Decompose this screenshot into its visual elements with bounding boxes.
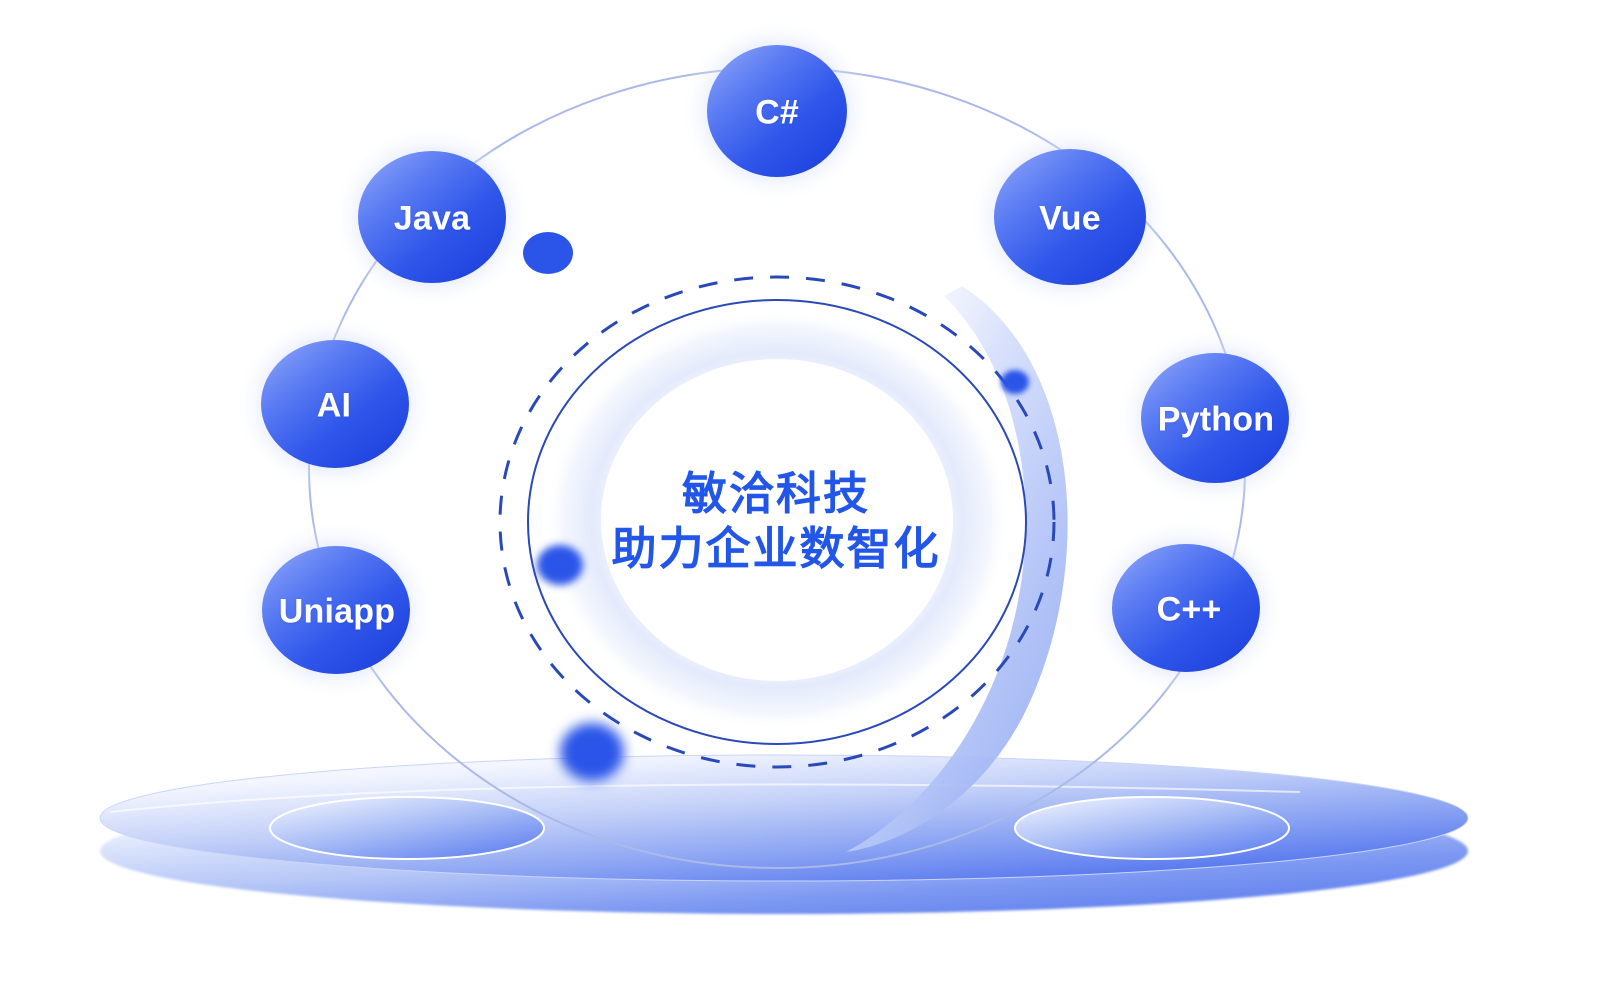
center-rings [500, 277, 1054, 767]
dot-mid-left-icon [537, 545, 583, 585]
node-label-java-hit[interactable] [358, 151, 506, 283]
dot-top-left-icon [523, 232, 573, 274]
base-inner-ring-right [1015, 797, 1289, 859]
node-label-python-hit[interactable] [1141, 353, 1289, 483]
base-inner-ring-left [270, 797, 544, 859]
node-label-ai-hit[interactable] [261, 340, 409, 468]
core-disc [601, 359, 953, 681]
node-label-vue-hit[interactable] [994, 149, 1146, 285]
infographic-canvas: C# Vue Python C++ Uniapp AI Java 敏洽科技 助力… [0, 0, 1607, 981]
node-label-uniapp-hit[interactable] [262, 546, 410, 674]
node-label-cpp-hit[interactable] [1112, 544, 1260, 672]
node-label-csharp-hit[interactable] [707, 45, 847, 177]
dot-right-icon [1001, 370, 1029, 394]
dot-bottom-icon [560, 723, 624, 781]
base-platform [100, 755, 1468, 914]
